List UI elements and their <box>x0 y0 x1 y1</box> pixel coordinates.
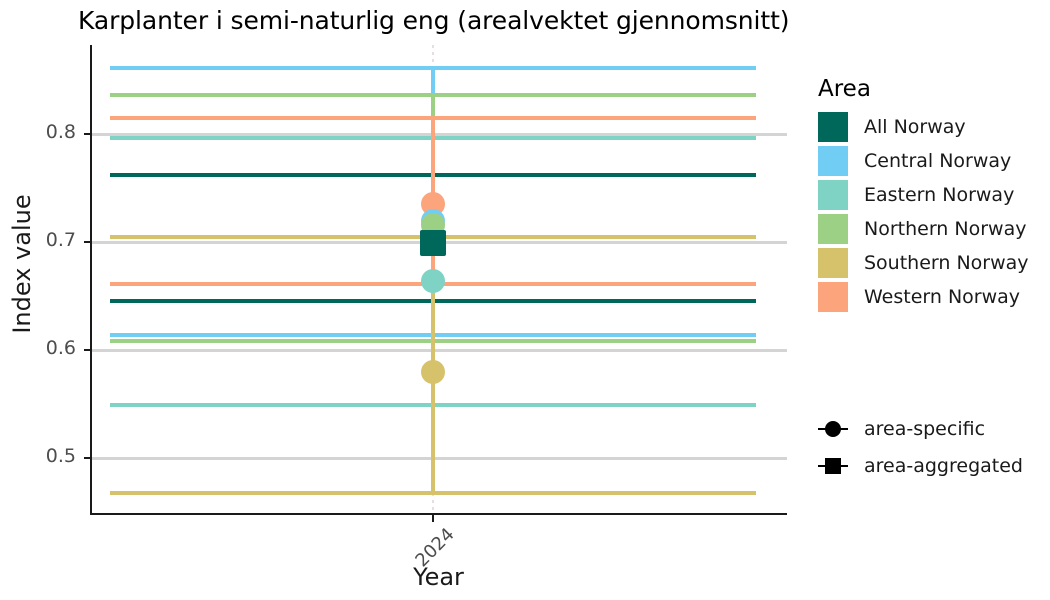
legend-swatch-icon <box>818 248 848 278</box>
legend-item-label: All Norway <box>864 116 966 138</box>
legend-item[interactable]: Southern Norway <box>818 246 1050 280</box>
data-point-circle[interactable] <box>421 269 445 293</box>
square-marker-icon <box>818 451 848 481</box>
y-axis-title: Index value <box>8 64 36 464</box>
y-axis-line <box>90 45 92 515</box>
legend-area-title: Area <box>818 78 1050 101</box>
legend-shape-item[interactable]: area-aggregated <box>818 447 1050 484</box>
legend-item-label: Eastern Norway <box>864 184 1014 206</box>
page-title: Karplanter i semi-naturlig eng (arealvek… <box>78 6 789 35</box>
gridline <box>92 349 787 352</box>
y-tick-mark <box>84 349 91 351</box>
legend-swatch-icon <box>818 180 848 210</box>
legend-item-label: Central Norway <box>864 150 1011 172</box>
legend-shape-label: area-aggregated <box>864 455 1023 477</box>
circle-marker-icon <box>818 414 848 444</box>
legend-shape-item[interactable]: area-specific <box>818 410 1050 447</box>
y-tick-mark <box>84 241 91 243</box>
legend-swatch-icon <box>818 112 848 142</box>
legend-item[interactable]: Central Norway <box>818 144 1050 178</box>
chart-root: Karplanter i semi-naturlig eng (arealvek… <box>0 0 1050 600</box>
legend-item[interactable]: Northern Norway <box>818 212 1050 246</box>
x-axis-title: Year <box>90 563 787 591</box>
data-point-circle[interactable] <box>421 360 445 384</box>
y-tick-mark <box>84 133 91 135</box>
legend-item[interactable]: All Norway <box>818 110 1050 144</box>
legend-item[interactable]: Eastern Norway <box>818 178 1050 212</box>
legend-area: Area All NorwayCentral NorwayEastern Nor… <box>818 78 1050 314</box>
legend-item-label: Southern Norway <box>864 252 1029 274</box>
legend-swatch-icon <box>818 146 848 176</box>
x-axis-line <box>90 513 787 515</box>
data-point-square[interactable] <box>420 230 446 256</box>
y-tick-mark <box>84 457 91 459</box>
legend-shape-items: area-specificarea-aggregated <box>818 410 1050 484</box>
x-tick-mark <box>432 515 434 522</box>
legend-swatch-icon <box>818 214 848 244</box>
gridline <box>92 457 787 460</box>
legend-item-label: Northern Norway <box>864 218 1026 240</box>
legend-swatch-icon <box>818 282 848 312</box>
legend-shape: area-specificarea-aggregated <box>818 410 1050 484</box>
legend-shape-label: area-specific <box>864 418 985 440</box>
legend-item-label: Western Norway <box>864 286 1020 308</box>
legend-item[interactable]: Western Norway <box>818 280 1050 314</box>
legend-area-items: All NorwayCentral NorwayEastern NorwayNo… <box>818 110 1050 314</box>
